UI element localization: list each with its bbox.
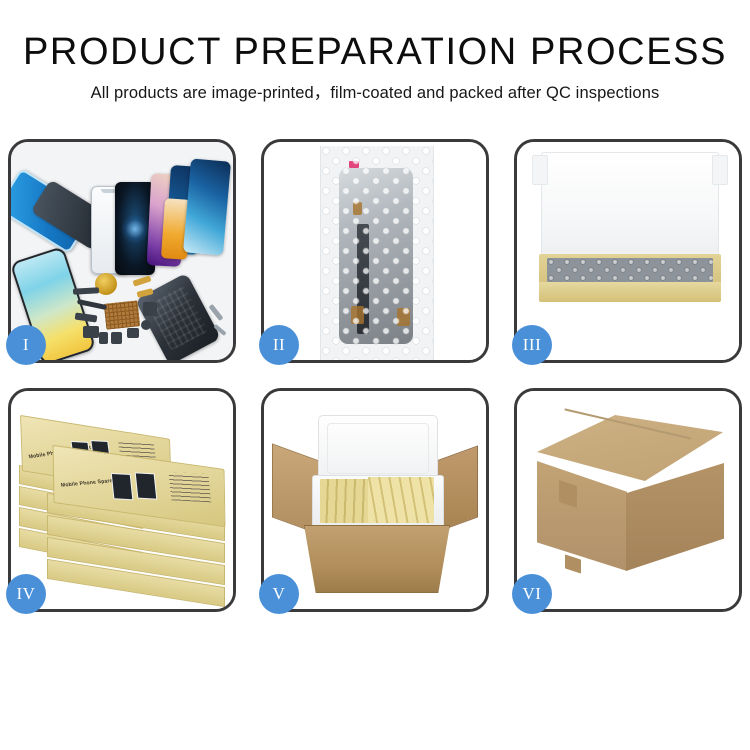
panel-stacked-boxes-image: Mobile Phone Spare Parts Mobile Phone Sp…: [11, 391, 233, 609]
step-badge-1: I: [6, 325, 46, 365]
foam-lid-open: [318, 415, 438, 481]
chip-board-part: [104, 300, 141, 329]
packed-yellow-boxes: [368, 477, 434, 523]
panel-kraft-box-foam-image: [517, 142, 739, 360]
panel-bubble-wrapped-screen-image: [264, 142, 486, 360]
step-badge-4: IV: [6, 574, 46, 614]
panel-sealed-carton-image: [517, 391, 739, 609]
step-badge-6: VI: [512, 574, 552, 614]
process-panel-grid: I II: [8, 139, 742, 612]
page-subtitle: All products are image-printed，film-coat…: [0, 83, 750, 103]
small-part: [99, 332, 108, 344]
kraft-box-front-wall: [539, 282, 721, 302]
panel-open-carton-image: [264, 391, 486, 609]
small-part: [83, 326, 99, 338]
step-badge-2: II: [259, 325, 299, 365]
grey-foam-padding: [547, 258, 713, 282]
panel-kraft-box-foam: III: [514, 139, 742, 363]
header: PRODUCT PREPARATION PROCESS All products…: [0, 0, 750, 103]
small-part: [111, 332, 122, 344]
white-foam-lid: [541, 152, 719, 262]
panel-bubble-wrapped-screen: II: [261, 139, 489, 363]
bubble-texture-overlay: [321, 146, 433, 360]
step-badge-5: V: [259, 574, 299, 614]
page-title: PRODUCT PREPARATION PROCESS: [0, 30, 750, 74]
bubble-wrap-sleeve: [320, 146, 434, 360]
carton-body: [304, 525, 450, 593]
aqua-phone: [183, 158, 231, 255]
panel-phone-parts-image: [11, 142, 233, 360]
box-label-spec-lines: [169, 472, 212, 502]
small-part: [143, 302, 157, 316]
panel-sealed-carton: VI: [514, 388, 742, 612]
box-label-photo: [111, 473, 134, 500]
panel-open-carton: V: [261, 388, 489, 612]
small-part: [127, 328, 139, 338]
box-label-photo: [135, 472, 158, 499]
panel-phone-parts: I: [8, 139, 236, 363]
step-badge-3: III: [512, 325, 552, 365]
small-part: [141, 320, 151, 330]
box-stack: Mobile Phone Spare Parts Mobile Phone Sp…: [17, 413, 227, 603]
panel-stacked-boxes: Mobile Phone Spare Parts Mobile Phone Sp…: [8, 388, 236, 612]
